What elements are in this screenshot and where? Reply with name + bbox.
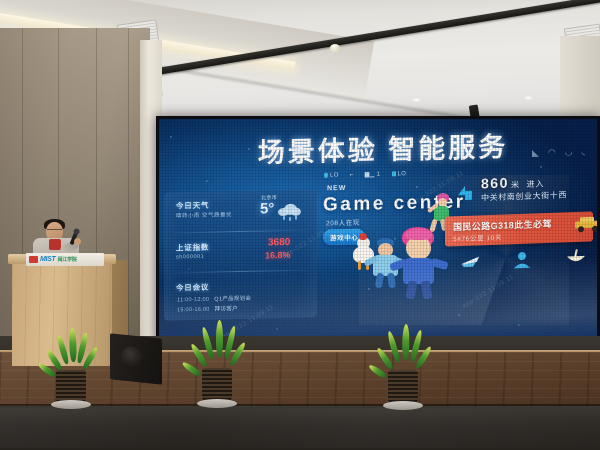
plaque-logo-mark [29, 256, 38, 263]
plant-saucer-2 [197, 399, 237, 408]
plant-saucer-3 [383, 401, 423, 410]
smoke-detector [330, 44, 340, 52]
screenshot-root: 场景体验 智能服务 ◣ ◠ ◡ ◟ LO ⌐ ▆▁1 LO 今日天气 晴转小雨 … [0, 0, 600, 450]
plant-pot-3 [388, 370, 418, 404]
plant-pot-1 [56, 370, 86, 404]
downlight-5 [412, 98, 421, 102]
plaque-brand: MIST [40, 256, 56, 263]
led-video-wall[interactable]: 场景体验 智能服务 ◣ ◠ ◡ ◟ LO ⌐ ▆▁1 LO 今日天气 晴转小雨 … [159, 119, 597, 341]
downlight-6 [524, 96, 533, 100]
floor-reflection [0, 408, 600, 448]
plant-pot-2 [202, 368, 232, 402]
speaker-cone [121, 345, 143, 369]
stage-loudspeaker [110, 333, 162, 384]
plaque-subtext: 闽江学院 [58, 256, 77, 263]
plant-saucer-1 [51, 400, 91, 409]
led-pixel-grid [159, 119, 597, 341]
podium-plaque: MIST 闽江学院 [26, 253, 104, 266]
presenter-glasses [47, 229, 62, 234]
presenter-hand [74, 238, 81, 245]
